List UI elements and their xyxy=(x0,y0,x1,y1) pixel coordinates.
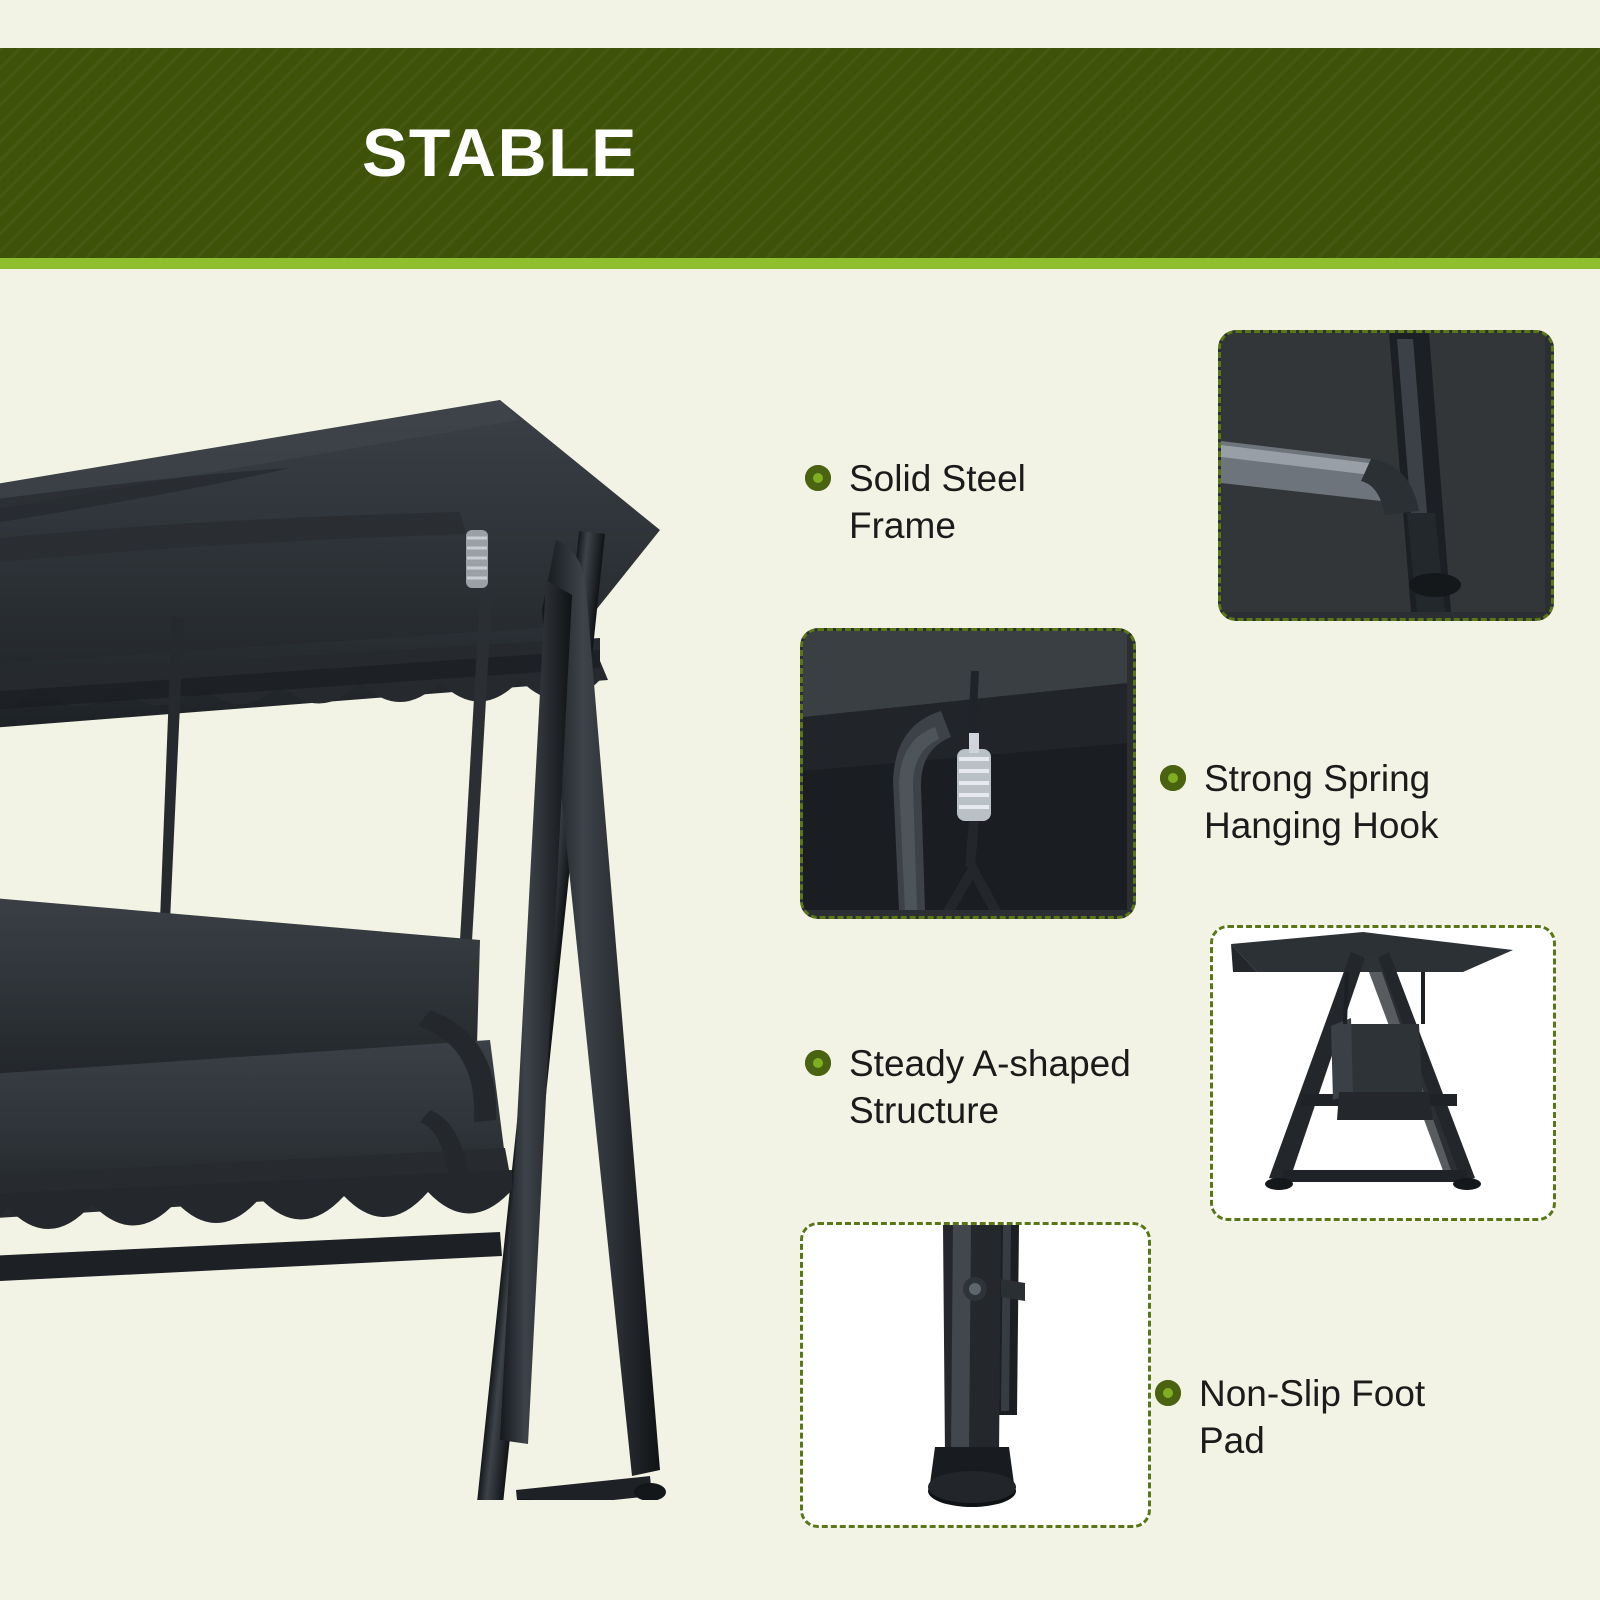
feature-steady-a-shaped-structure: Steady A-shaped Structure xyxy=(805,1040,1235,1135)
feature-label: Steady A-shaped Structure xyxy=(849,1040,1131,1135)
header-banner: STABLE xyxy=(0,48,1600,258)
feature-strong-spring-hanging-hook: Strong Spring Hanging Hook xyxy=(1160,755,1590,850)
banner-underline xyxy=(0,258,1600,269)
callout-spring-hook xyxy=(800,628,1136,919)
bullet-icon xyxy=(805,1050,831,1076)
feature-non-slip-foot-pad: Non-Slip Foot Pad xyxy=(1155,1370,1555,1465)
page-title: STABLE xyxy=(362,119,638,187)
callout-a-frame-structure xyxy=(1210,925,1556,1221)
feature-label: Solid Steel Frame xyxy=(849,455,1026,550)
feature-solid-steel-frame: Solid Steel Frame xyxy=(805,455,1185,550)
feature-label: Non-Slip Foot Pad xyxy=(1199,1370,1425,1465)
callout-foot-pad xyxy=(800,1222,1151,1528)
bullet-icon xyxy=(805,465,831,491)
feature-label: Strong Spring Hanging Hook xyxy=(1204,755,1438,850)
bullet-icon xyxy=(1155,1380,1181,1406)
product-photo-swing-chair xyxy=(0,380,760,1500)
callout-steel-frame-joint xyxy=(1218,330,1554,621)
bullet-icon xyxy=(1160,765,1186,791)
